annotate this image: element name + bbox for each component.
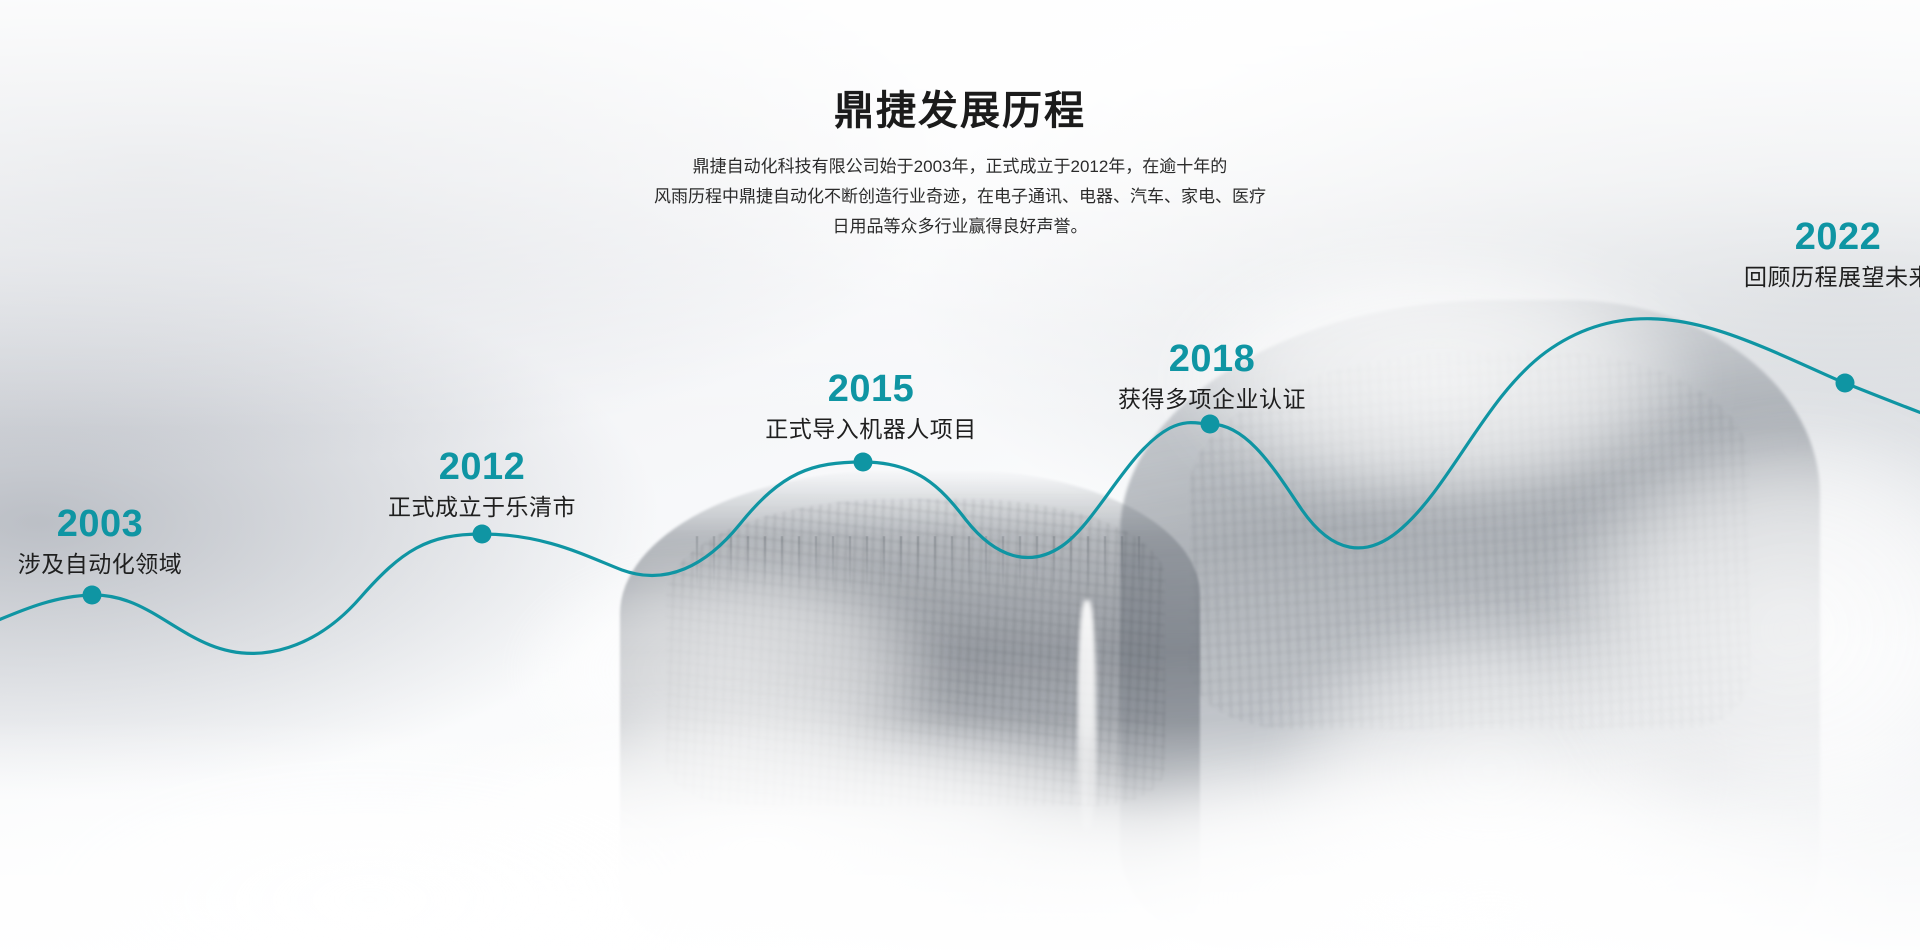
milestone-desc-2003: 涉及自动化领域 [18, 550, 183, 579]
milestone-2003[interactable]: 2003 涉及自动化领域 [18, 505, 183, 579]
milestone-2018[interactable]: 2018 获得多项企业认证 [1118, 340, 1306, 414]
milestone-year-2022: 2022 [1744, 218, 1920, 256]
milestone-dot-2003[interactable] [83, 586, 102, 605]
milestone-dot-2012[interactable] [473, 525, 492, 544]
milestone-2012[interactable]: 2012 正式成立于乐清市 [388, 448, 576, 522]
milestone-desc-2015: 正式导入机器人项目 [765, 415, 977, 444]
milestone-2015[interactable]: 2015 正式导入机器人项目 [765, 370, 977, 444]
milestone-2022[interactable]: 2022 回顾历程展望未来 [1744, 218, 1920, 292]
timeline-curve [0, 319, 1920, 654]
timeline-poster: 鼎捷发展历程 鼎捷自动化科技有限公司始于2003年，正式成立于2012年，在逾十… [0, 0, 1920, 950]
milestone-desc-2018: 获得多项企业认证 [1118, 385, 1306, 414]
milestone-desc-2012: 正式成立于乐清市 [388, 493, 576, 522]
milestone-desc-2022: 回顾历程展望未来 [1744, 263, 1920, 292]
subtitle-line-1: 鼎捷自动化科技有限公司始于2003年，正式成立于2012年，在逾十年的 [550, 152, 1370, 182]
page-title: 鼎捷发展历程 [0, 88, 1920, 134]
milestone-dot-2022[interactable] [1836, 374, 1855, 393]
milestone-year-2003: 2003 [18, 505, 183, 543]
subtitle-line-2: 风雨历程中鼎捷自动化不断创造行业奇迹，在电子通讯、电器、汽车、家电、医疗 [550, 182, 1370, 212]
milestone-dot-2018[interactable] [1201, 415, 1220, 434]
milestone-dot-2015[interactable] [854, 453, 873, 472]
subtitle-line-3: 日用品等众多行业赢得良好声誉。 [550, 212, 1370, 242]
milestone-year-2012: 2012 [388, 448, 576, 486]
milestone-year-2015: 2015 [765, 370, 977, 408]
page-subtitle: 鼎捷自动化科技有限公司始于2003年，正式成立于2012年，在逾十年的 风雨历程… [550, 152, 1370, 242]
header: 鼎捷发展历程 鼎捷自动化科技有限公司始于2003年，正式成立于2012年，在逾十… [0, 88, 1920, 242]
milestone-year-2018: 2018 [1118, 340, 1306, 378]
